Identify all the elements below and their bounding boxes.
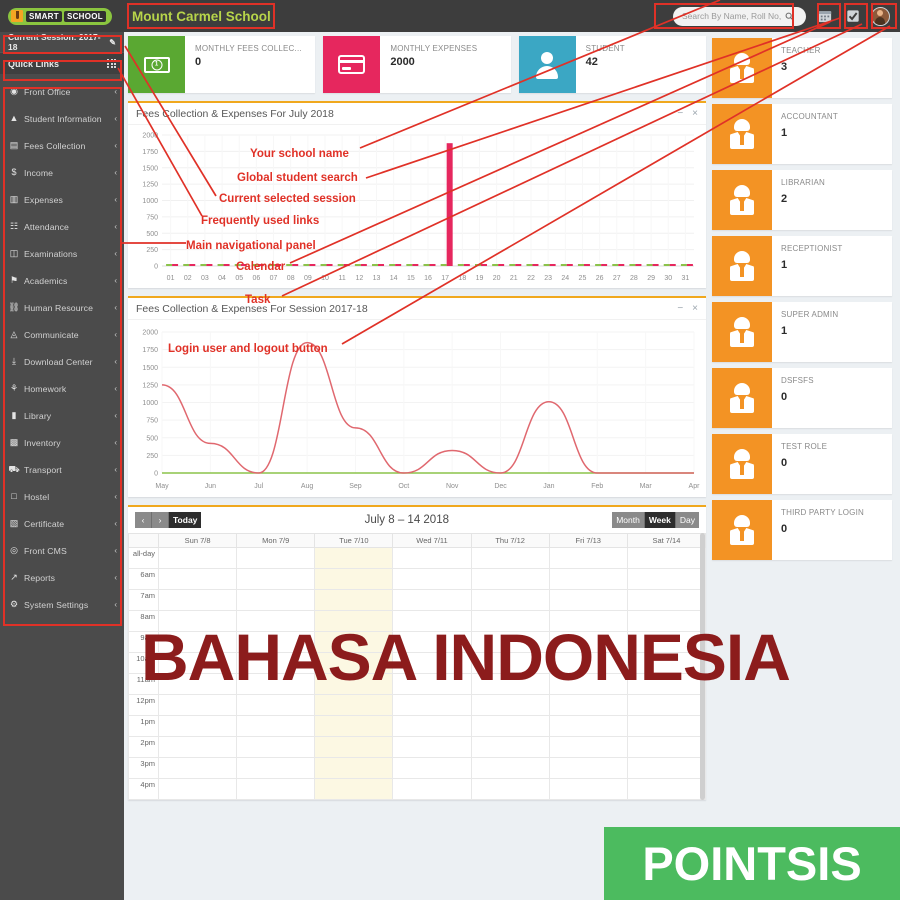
chevron-left-icon: ‹	[114, 330, 117, 339]
calendar-slot-cell[interactable]	[549, 590, 627, 611]
search-icon[interactable]	[785, 12, 794, 21]
sidebar-item-communicate[interactable]: ◬Communicate‹	[0, 321, 124, 348]
svg-text:0: 0	[154, 471, 158, 478]
calendar-next-button[interactable]: ›	[152, 512, 169, 528]
sidebar-item-front-office[interactable]: ◉Front Office‹	[0, 78, 124, 105]
svg-text:09: 09	[304, 275, 312, 282]
current-session[interactable]: Current Session: 2017-18 ✎	[0, 32, 124, 52]
task-checkbox-icon[interactable]	[843, 7, 862, 26]
svg-text:Jul: Jul	[254, 483, 263, 490]
calendar-slot-cell[interactable]	[549, 716, 627, 737]
calendar-slot-cell[interactable]	[393, 569, 471, 590]
search-input[interactable]	[680, 10, 785, 22]
calendar-slot-cell[interactable]	[471, 758, 549, 779]
sidebar-item-inventory[interactable]: ▩Inventory‹	[0, 429, 124, 456]
chevron-left-icon: ‹	[114, 195, 117, 204]
role-card-icon	[712, 302, 772, 362]
calendar-slot-cell[interactable]	[159, 695, 237, 716]
svg-text:26: 26	[596, 275, 604, 282]
calendar-slot-cell[interactable]	[159, 779, 237, 800]
panel-header: Fees Collection & Expenses For July 2018…	[128, 103, 706, 125]
role-card-title: TEST ROLE	[781, 442, 827, 451]
svg-text:14: 14	[390, 275, 398, 282]
svg-text:Feb: Feb	[591, 483, 603, 490]
role-card[interactable]: SUPER ADMIN1	[712, 302, 892, 362]
role-card-title: THIRD PARTY LOGIN	[781, 508, 864, 517]
calendar-slot-cell[interactable]	[237, 716, 315, 737]
role-card[interactable]: THIRD PARTY LOGIN0	[712, 500, 892, 560]
calendar-slot-cell[interactable]	[315, 695, 393, 716]
sidebar-item-label: Front Office	[21, 87, 114, 97]
calendar-allday-cell[interactable]	[315, 548, 393, 569]
role-card-count: 2	[781, 193, 825, 205]
panel-title: Fees Collection & Expenses For Session 2…	[136, 303, 368, 315]
calendar-day-header[interactable]: Thu 7/12	[471, 534, 549, 548]
stat-card-icon	[323, 36, 380, 93]
svg-text:1750: 1750	[142, 149, 158, 156]
chevron-left-icon: ‹	[114, 492, 117, 501]
pencil-icon[interactable]: ✎	[109, 38, 116, 47]
svg-text:500: 500	[146, 435, 158, 442]
svg-text:29: 29	[647, 275, 655, 282]
logo-chunk-school: SCHOOL	[64, 11, 106, 22]
calendar-slot-cell[interactable]	[315, 590, 393, 611]
svg-text:11: 11	[339, 275, 346, 282]
chevron-left-icon: ‹	[114, 114, 117, 123]
role-card[interactable]: DSFSFS0	[712, 368, 892, 428]
sidebar-item-homework[interactable]: ⚘Homework‹	[0, 375, 124, 402]
sidebar-item-student-information[interactable]: ▲Student Information‹	[0, 105, 124, 132]
svg-text:13: 13	[373, 275, 381, 282]
calendar-slot-cell[interactable]	[159, 716, 237, 737]
role-card[interactable]: TEACHER3	[712, 38, 892, 98]
stat-card[interactable]: MONTHLY EXPENSES2000	[323, 36, 510, 93]
svg-text:250: 250	[146, 247, 158, 254]
panel-session-fees-chart: Fees Collection & Expenses For Session 2…	[128, 296, 706, 497]
calendar-header-row: Sun 7/8Mon 7/9Tue 7/10Wed 7/11Thu 7/12Fr…	[129, 534, 706, 548]
role-card[interactable]: ACCOUNTANT1	[712, 104, 892, 164]
svg-text:Nov: Nov	[446, 483, 459, 490]
role-card[interactable]: RECEPTIONIST1	[712, 236, 892, 296]
calendar-time-row: 3pm	[129, 758, 706, 779]
role-card-body: RECEPTIONIST1	[772, 236, 843, 296]
minimize-icon[interactable]: −	[677, 303, 683, 314]
calendar-day-header[interactable]: Mon 7/9	[237, 534, 315, 548]
calendar-slot-cell[interactable]	[159, 737, 237, 758]
calendar-title: July 8 – 14 2018	[201, 514, 612, 526]
svg-text:04: 04	[218, 275, 226, 282]
svg-text:Mar: Mar	[640, 483, 653, 490]
stat-card[interactable]: MONTHLY FEES COLLEC...0	[128, 36, 315, 93]
calendar-slot-cell[interactable]	[237, 779, 315, 800]
calendar-time-label: 2pm	[129, 737, 159, 758]
calendar-slot-cell[interactable]	[237, 695, 315, 716]
stat-card-value: 2000	[390, 56, 477, 68]
svg-text:1000: 1000	[142, 400, 158, 407]
chevron-left-icon: ‹	[114, 357, 117, 366]
staff-tie-icon	[730, 53, 754, 83]
sidebar-item-label: Human Resource	[21, 303, 114, 313]
grid-icon[interactable]	[107, 59, 116, 68]
calendar-today-button[interactable]: Today	[169, 512, 201, 528]
calendar-slot-cell[interactable]	[393, 590, 471, 611]
sidebar-item-label: Income	[21, 168, 114, 178]
top-bar-actions	[673, 7, 900, 26]
sidebar-item-front-cms[interactable]: ◎Front CMS‹	[0, 537, 124, 564]
sidebar-item-income[interactable]: $Income‹	[0, 159, 124, 186]
role-card-icon	[712, 434, 772, 494]
svg-text:Apr: Apr	[689, 483, 701, 490]
sidebar-item-transport[interactable]: ⛟Transport‹	[0, 456, 124, 483]
sidebar-item-label: Expenses	[21, 195, 114, 205]
calendar-view-week[interactable]: Week	[645, 512, 676, 528]
calendar-slot-cell[interactable]	[471, 569, 549, 590]
panel-title: Fees Collection & Expenses For July 2018	[136, 108, 334, 120]
calendar-slot-cell[interactable]	[627, 758, 705, 779]
chevron-left-icon: ‹	[114, 384, 117, 393]
role-card-body: ACCOUNTANT1	[772, 104, 838, 164]
role-card-body: LIBRARIAN2	[772, 170, 825, 230]
money-note-icon	[144, 57, 170, 73]
calendar-slot-cell[interactable]	[627, 737, 705, 758]
fees-icon: ▤	[7, 141, 21, 150]
role-card-icon	[712, 500, 772, 560]
role-card-count: 1	[781, 259, 843, 271]
logo-chunk-smart: SMART	[26, 11, 62, 22]
calendar-slot-cell[interactable]	[393, 758, 471, 779]
role-card-icon	[712, 368, 772, 428]
svg-text:06: 06	[252, 275, 260, 282]
svg-text:1500: 1500	[142, 165, 158, 172]
calendar-slot-cell[interactable]	[315, 779, 393, 800]
chevron-left-icon: ‹	[114, 600, 117, 609]
homework-icon: ⚘	[7, 384, 21, 393]
calendar-slot-cell[interactable]	[237, 590, 315, 611]
stat-card-value: 42	[586, 56, 625, 68]
svg-text:0: 0	[154, 264, 158, 271]
minimize-icon[interactable]: −	[677, 108, 683, 119]
role-card-icon	[712, 104, 772, 164]
sidebar-item-label: Inventory	[21, 438, 114, 448]
watermark-pointsis: POINTSIS	[604, 827, 900, 900]
svg-text:05: 05	[235, 275, 243, 282]
chevron-left-icon: ‹	[114, 465, 117, 474]
sidebar-item-label: Library	[21, 411, 114, 421]
calendar-slot-cell[interactable]	[549, 779, 627, 800]
calendar-slot-cell[interactable]	[315, 569, 393, 590]
certificate-icon: ▧	[7, 519, 21, 528]
calendar-slot-cell[interactable]	[627, 590, 705, 611]
sidebar-item-label: Fees Collection	[21, 141, 114, 151]
calendar-slot-cell[interactable]	[237, 569, 315, 590]
calendar-slot-cell[interactable]	[393, 695, 471, 716]
svg-text:21: 21	[510, 275, 518, 282]
svg-text:22: 22	[527, 275, 535, 282]
stat-card-value: 0	[195, 56, 302, 68]
svg-text:07: 07	[270, 275, 278, 282]
svg-text:25: 25	[579, 275, 587, 282]
sidebar-item-attendance[interactable]: ☷Attendance‹	[0, 213, 124, 240]
quick-links-label: Quick Links	[8, 59, 59, 69]
calendar-check-icon: ☷	[7, 222, 21, 231]
calendar-slot-cell[interactable]	[393, 716, 471, 737]
quick-links[interactable]: Quick Links	[0, 52, 124, 74]
svg-text:16: 16	[424, 275, 432, 282]
stat-card-title: MONTHLY FEES COLLEC...	[195, 44, 302, 53]
calendar-slot-cell[interactable]	[159, 758, 237, 779]
calendar-view-month[interactable]: Month	[612, 512, 645, 528]
calendar-slot-cell[interactable]	[393, 779, 471, 800]
calendar-day-header[interactable]: Sun 7/8	[159, 534, 237, 548]
school-name: Mount Carmel School	[124, 9, 271, 24]
logo-text: SMART SCHOOL	[26, 11, 106, 22]
calendar-time-label: 1pm	[129, 716, 159, 737]
calendar-allday-row: all-day	[129, 548, 706, 569]
stat-card-icon	[128, 36, 185, 93]
calendar-day-header[interactable]: Wed 7/11	[393, 534, 471, 548]
sidebar-item-hostel[interactable]: □Hostel‹	[0, 483, 124, 510]
sidebar-item-label: Attendance	[21, 222, 114, 232]
top-navigation-bar: SMART SCHOOL Mount Carmel School	[0, 0, 900, 32]
role-card-title: RECEPTIONIST	[781, 244, 843, 253]
calendar-slot-cell[interactable]	[549, 695, 627, 716]
svg-text:28: 28	[630, 275, 638, 282]
calendar-slot-cell[interactable]	[471, 716, 549, 737]
staff-tie-icon	[730, 185, 754, 215]
reports-icon: ↗	[7, 573, 21, 582]
calendar-slot-cell[interactable]	[237, 758, 315, 779]
staff-tie-icon	[730, 317, 754, 347]
book-icon	[11, 10, 23, 22]
calendar-prev-button[interactable]: ‹	[135, 512, 152, 528]
svg-text:24: 24	[561, 275, 569, 282]
sidebar-item-label: Student Information	[21, 114, 114, 124]
calendar-slot-cell[interactable]	[471, 695, 549, 716]
sidebar-item-label: Reports	[21, 573, 114, 583]
svg-text:750: 750	[146, 418, 158, 425]
svg-text:01: 01	[167, 275, 175, 282]
library-icon: ▮	[7, 411, 21, 420]
calendar-allday-cell[interactable]	[549, 548, 627, 569]
calendar-time-row: 1pm	[129, 716, 706, 737]
calendar-day-header[interactable]: Sat 7/14	[627, 534, 705, 548]
svg-text:2000: 2000	[142, 133, 158, 140]
chevron-left-icon: ‹	[114, 222, 117, 231]
calendar-allday-cell[interactable]	[159, 548, 237, 569]
sidebar-item-certificate[interactable]: ▧Certificate‹	[0, 510, 124, 537]
svg-text:31: 31	[682, 275, 690, 282]
panel-tools: − ×	[677, 303, 698, 314]
svg-text:23: 23	[544, 275, 552, 282]
sidebar-item-examinations[interactable]: ◫Examinations‹	[0, 240, 124, 267]
svg-text:2000: 2000	[142, 330, 158, 337]
svg-text:03: 03	[201, 275, 209, 282]
role-card-icon	[712, 38, 772, 98]
calendar-day-header[interactable]: Fri 7/13	[549, 534, 627, 548]
role-card-count: 1	[781, 325, 838, 337]
svg-text:May: May	[155, 483, 169, 490]
stat-card[interactable]: STUDENT42	[519, 36, 706, 93]
sidebar-item-label: Communicate	[21, 330, 114, 340]
gear-icon: ⚙	[7, 600, 21, 609]
stat-card-row: MONTHLY FEES COLLEC...0MONTHLY EXPENSES2…	[128, 36, 706, 93]
global-student-search[interactable]	[673, 7, 806, 26]
role-card-body: DSFSFS0	[772, 368, 814, 428]
close-icon[interactable]: ×	[692, 303, 698, 314]
org-chart-icon: ⛓	[7, 303, 21, 312]
svg-text:17: 17	[441, 275, 449, 282]
chevron-left-icon: ‹	[114, 141, 117, 150]
chevron-left-icon: ‹	[114, 87, 117, 96]
calendar-allday-cell[interactable]	[471, 548, 549, 569]
calendar-slot-cell[interactable]	[627, 779, 705, 800]
close-icon[interactable]: ×	[692, 108, 698, 119]
calendar-slot-cell[interactable]	[471, 590, 549, 611]
stat-card-icon	[519, 36, 576, 93]
stat-card-title: MONTHLY EXPENSES	[390, 44, 477, 53]
calendar-time-row: 7am	[129, 590, 706, 611]
sidebar-item-label: Homework	[21, 384, 114, 394]
svg-text:15: 15	[407, 275, 415, 282]
svg-text:1250: 1250	[142, 182, 158, 189]
calendar-slot-cell[interactable]	[159, 590, 237, 611]
chevron-left-icon: ‹	[114, 411, 117, 420]
current-session-label: Current Session: 2017-18	[8, 32, 106, 52]
svg-text:1250: 1250	[142, 382, 158, 389]
svg-text:10: 10	[321, 275, 329, 282]
graduation-cap-icon: ⚑	[7, 276, 21, 285]
bar-chart: 0250500750100012501500175020000102030405…	[128, 125, 706, 288]
svg-text:02: 02	[184, 275, 192, 282]
calendar-slot-cell[interactable]	[627, 569, 705, 590]
role-card-body: SUPER ADMIN1	[772, 302, 838, 362]
sidebar-item-reports[interactable]: ↗Reports‹	[0, 564, 124, 591]
calendar-time-label: 12pm	[129, 695, 159, 716]
staff-tie-icon	[730, 251, 754, 281]
app-logo[interactable]: SMART SCHOOL	[0, 0, 124, 32]
calendar-slot-cell[interactable]	[315, 758, 393, 779]
calendar-view-day[interactable]: Day	[676, 512, 699, 528]
svg-text:250: 250	[146, 453, 158, 460]
calendar-time-row: 2pm	[129, 737, 706, 758]
sidebar-item-label: Academics	[21, 276, 114, 286]
calendar-day-header[interactable]: Tue 7/10	[315, 534, 393, 548]
chevron-left-icon: ‹	[114, 546, 117, 555]
user-icon	[536, 52, 558, 78]
chevron-left-icon: ‹	[114, 276, 117, 285]
calendar-icon[interactable]	[815, 7, 834, 26]
role-card-count: 0	[781, 457, 827, 469]
line-chart: 025050075010001250150017502000MayJunJulA…	[128, 320, 706, 497]
panel-header: Fees Collection & Expenses For Session 2…	[128, 298, 706, 320]
calendar-time-label: 4pm	[129, 779, 159, 800]
sidebar-item-system-settings[interactable]: ⚙System Settings‹	[0, 591, 124, 618]
svg-text:Oct: Oct	[398, 483, 409, 490]
book-open-icon: ◫	[7, 249, 21, 258]
dollar-icon: $	[7, 168, 21, 177]
role-card-count: 1	[781, 127, 838, 139]
sidebar-item-fees-collection[interactable]: ▤Fees Collection‹	[0, 132, 124, 159]
calendar-allday-cell[interactable]	[237, 548, 315, 569]
svg-text:Jan: Jan	[543, 483, 554, 490]
staff-tie-icon	[730, 383, 754, 413]
panel-monthly-fees-chart: Fees Collection & Expenses For July 2018…	[128, 101, 706, 288]
role-card-title: DSFSFS	[781, 376, 814, 385]
calendar-slot-cell[interactable]	[315, 737, 393, 758]
sidebar-item-label: Examinations	[21, 249, 114, 259]
calendar-slot-cell[interactable]	[471, 737, 549, 758]
calendar-time-row: 6am	[129, 569, 706, 590]
svg-text:30: 30	[664, 275, 672, 282]
svg-text:1750: 1750	[142, 347, 158, 354]
svg-text:18: 18	[458, 275, 466, 282]
calendar-slot-cell[interactable]	[627, 716, 705, 737]
calendar-slot-cell[interactable]	[549, 737, 627, 758]
calendar-toolbar: ‹ › Today July 8 – 14 2018 MonthWeekDay	[128, 507, 706, 533]
left-sidebar: Current Session: 2017-18 ✎ Quick Links ◉…	[0, 32, 124, 900]
staff-tie-icon	[730, 119, 754, 149]
avatar[interactable]	[871, 7, 890, 26]
staff-tie-icon	[730, 515, 754, 545]
svg-text:750: 750	[146, 214, 158, 221]
sidebar-item-academics[interactable]: ⚑Academics‹	[0, 267, 124, 294]
hostel-icon: □	[7, 492, 21, 501]
calendar-allday-label: all-day	[129, 548, 159, 569]
stat-card-body: STUDENT42	[576, 36, 625, 93]
calendar-slot-cell[interactable]	[549, 758, 627, 779]
calendar-slot-cell[interactable]	[237, 737, 315, 758]
svg-text:1000: 1000	[142, 198, 158, 205]
svg-text:Dec: Dec	[494, 483, 507, 490]
calendar-slot-cell[interactable]	[159, 569, 237, 590]
stat-card-body: MONTHLY EXPENSES2000	[380, 36, 477, 93]
calendar-view-switcher: MonthWeekDay	[612, 512, 699, 528]
calendar-allday-cell[interactable]	[393, 548, 471, 569]
sidebar-item-human-resource[interactable]: ⛓Human Resource‹	[0, 294, 124, 321]
sidebar-item-library[interactable]: ▮Library‹	[0, 402, 124, 429]
sidebar-item-label: Hostel	[21, 492, 114, 502]
sidebar-item-download-center[interactable]: ⤓Download Center‹	[0, 348, 124, 375]
role-card-icon	[712, 170, 772, 230]
calendar-slot-cell[interactable]	[627, 695, 705, 716]
calendar-allday-cell[interactable]	[627, 548, 705, 569]
calendar-time-row: 12pm	[129, 695, 706, 716]
staff-tie-icon	[730, 449, 754, 479]
role-card-body: TEST ROLE0	[772, 434, 827, 494]
calendar-slot-cell[interactable]	[315, 716, 393, 737]
svg-text:08: 08	[287, 275, 295, 282]
sidebar-item-expenses[interactable]: ▥Expenses‹	[0, 186, 124, 213]
role-card-title: LIBRARIAN	[781, 178, 825, 187]
chevron-left-icon: ‹	[114, 168, 117, 177]
role-card[interactable]: LIBRARIAN2	[712, 170, 892, 230]
calendar-slot-cell[interactable]	[471, 779, 549, 800]
role-card-title: TEACHER	[781, 46, 821, 55]
chevron-left-icon: ‹	[114, 519, 117, 528]
calendar-nav-buttons: ‹ › Today	[135, 512, 201, 528]
chevron-left-icon: ‹	[114, 573, 117, 582]
calendar-time-label: 7am	[129, 590, 159, 611]
calendar-slot-cell[interactable]	[393, 737, 471, 758]
sidebar-item-label: Download Center	[21, 357, 114, 367]
sidebar-item-label: Transport	[21, 465, 114, 475]
download-icon: ⤓	[7, 357, 21, 366]
role-card[interactable]: TEST ROLE0	[712, 434, 892, 494]
calendar-time-label: 6am	[129, 569, 159, 590]
line-chart-svg: 025050075010001250150017502000MayJunJulA…	[128, 320, 702, 497]
calendar-slot-cell[interactable]	[549, 569, 627, 590]
chevron-left-icon: ‹	[114, 249, 117, 258]
